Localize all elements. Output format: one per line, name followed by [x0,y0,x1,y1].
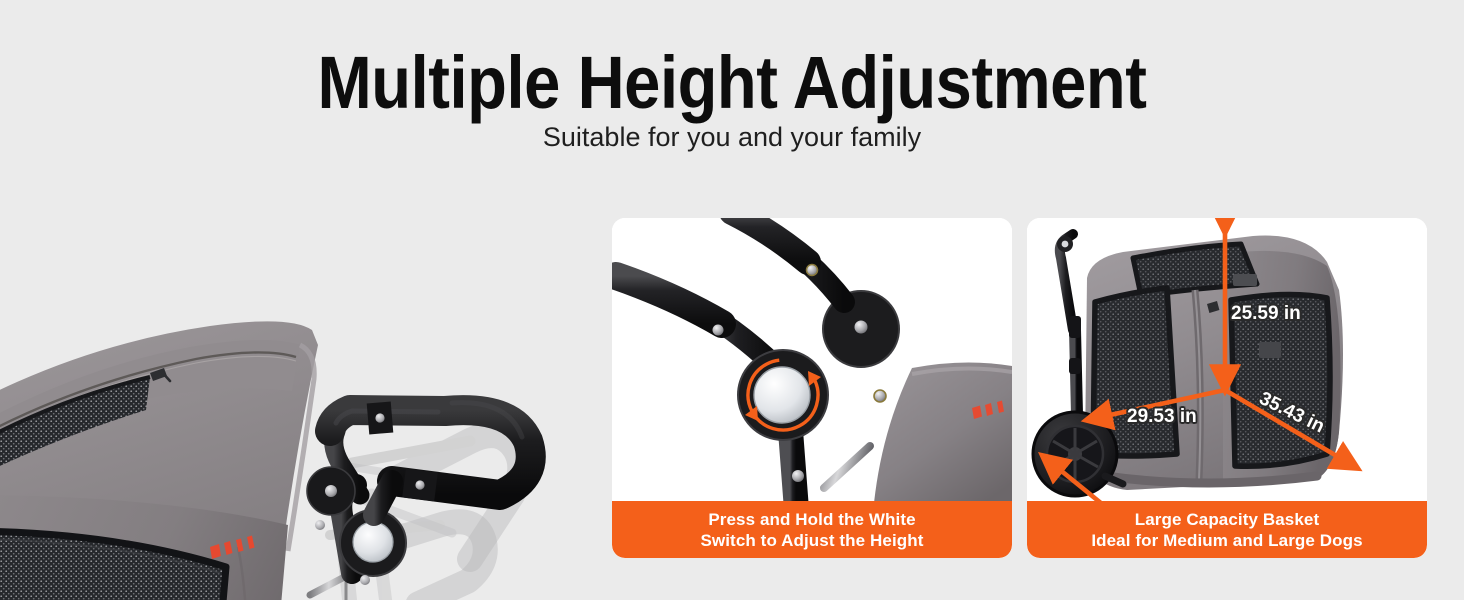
handle-joint-illustration [612,218,1012,503]
hero-illustration [0,195,600,600]
stroller-cabin [1085,236,1343,490]
card-photo-large-basket: 25.59 in 29.53 in 35.43 in [1027,218,1427,503]
caption-line-1: Press and Hold the White [708,509,915,530]
page-subtitle: Suitable for you and your family [0,120,1464,154]
hero-product-image [0,195,600,600]
banner-header: Multiple Height Adjustment Suitable for … [0,0,1464,190]
card-caption-large-basket: Large Capacity Basket Ideal for Medium a… [1027,501,1427,558]
card-photo-height-switch [612,218,1012,503]
caption-line-2: Ideal for Medium and Large Dogs [1091,530,1362,551]
stroller-dimensions-illustration [1027,218,1427,503]
feature-card-height-switch: Press and Hold the White Switch to Adjus… [612,218,1012,558]
card-caption-height-switch: Press and Hold the White Switch to Adjus… [612,501,1012,558]
page-title: Multiple Height Adjustment [88,44,1376,122]
caption-line-2: Switch to Adjust the Height [700,530,923,551]
feature-card-large-basket: 25.59 in 29.53 in 35.43 in Large Capacit… [1027,218,1427,558]
caption-line-1: Large Capacity Basket [1135,509,1319,530]
marketing-banner: Multiple Height Adjustment Suitable for … [0,0,1464,600]
